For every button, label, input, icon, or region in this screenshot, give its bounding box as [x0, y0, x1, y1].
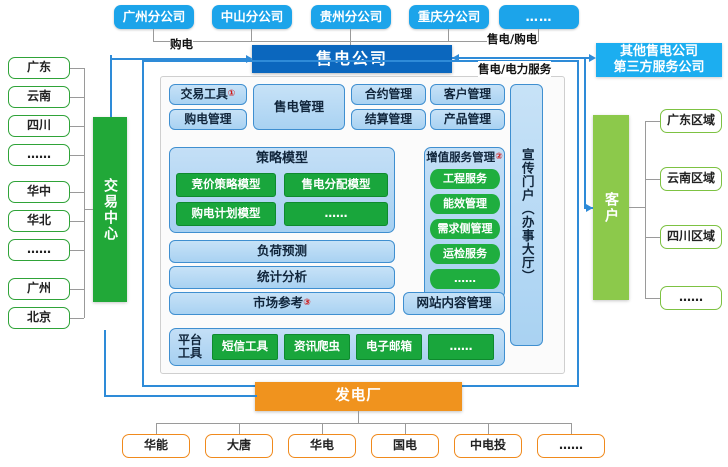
left-node-0[interactable]: 广东 — [8, 57, 70, 79]
group-value-added-title-label: 增值服务管理 — [426, 151, 495, 164]
left-tree-branch-2 — [70, 126, 84, 127]
left-node-8[interactable]: 北京 — [8, 307, 70, 329]
diagram-canvas: 广州分公司 中山分公司 贵州分公司 重庆分公司 …… 售电公司 交易工具① 购电… — [0, 0, 728, 467]
right-tree-branch-3 — [645, 298, 660, 299]
top-branch-1[interactable]: 中山分公司 — [212, 5, 292, 29]
bottom-tree-branch-1 — [239, 423, 240, 434]
module-statistical-analysis[interactable]: 统计分析 — [169, 266, 395, 289]
module-load-forecast[interactable]: 负荷预测 — [169, 240, 395, 263]
strategy-item-3[interactable]: …… — [284, 202, 388, 226]
left-tree-to-hub — [84, 209, 93, 210]
platform-tools-title-line2: 工具 — [178, 347, 202, 360]
module-trading-tools-label: 交易工具 — [181, 88, 228, 102]
group-platform-tools-title: 平台 工具 — [173, 331, 207, 363]
value-added-item-0[interactable]: 工程服务 — [430, 169, 500, 189]
value-added-item-3[interactable]: 运检服务 — [430, 244, 500, 264]
left-tree-branch-8 — [70, 318, 84, 319]
top-branch-3[interactable]: 重庆分公司 — [409, 5, 489, 29]
module-website-content-mgmt[interactable]: 网站内容管理 — [403, 292, 505, 315]
module-market-reference[interactable]: 市场参考③ — [169, 292, 395, 315]
hub-power-plant: 发电厂 — [255, 382, 462, 411]
bottom-tree-branch-3 — [405, 423, 406, 434]
group-value-added-title: 增值服务管理② — [424, 149, 505, 166]
module-trading-tools[interactable]: 交易工具① — [169, 84, 247, 105]
flow-buy-power-hline — [110, 58, 250, 60]
module-settlement-mgmt[interactable]: 结算管理 — [351, 109, 426, 130]
flow-buy-power-arrowhead — [246, 55, 253, 63]
platform-tool-0[interactable]: 短信工具 — [212, 334, 278, 360]
module-publicity-portal[interactable]: 宣传门户（办事大厅） — [510, 84, 543, 346]
value-added-item-2[interactable]: 需求侧管理 — [430, 219, 500, 239]
right-tree-branch-1 — [645, 179, 660, 180]
bottom-tree-branch-4 — [488, 423, 489, 434]
flow-sell-service-vline — [584, 59, 586, 209]
right-tree-to-hub — [629, 207, 645, 208]
platform-tool-2[interactable]: 电子邮箱 — [356, 334, 422, 360]
hub-trading-center-label: 交易中心 — [102, 178, 118, 242]
module-contract-mgmt[interactable]: 合约管理 — [351, 84, 426, 105]
left-tree-branch-1 — [70, 97, 84, 98]
flow-sell-service-label: 售电/电力服务 — [478, 61, 551, 77]
module-market-reference-label: 市场参考 — [253, 296, 303, 310]
flow-sell-buy-arrowhead — [452, 54, 459, 62]
left-tree-branch-3 — [70, 155, 84, 156]
strategy-item-1[interactable]: 售电分配模型 — [284, 173, 388, 197]
left-node-3[interactable]: …… — [8, 144, 70, 166]
value-added-item-1[interactable]: 能效管理 — [430, 194, 500, 214]
bottom-node-3[interactable]: 国电 — [371, 434, 439, 458]
hub-trading-center: 交易中心 — [93, 117, 127, 302]
branch-bus — [153, 41, 539, 42]
value-added-item-4[interactable]: …… — [430, 269, 500, 289]
module-power-sales-mgmt[interactable]: 售电管理 — [253, 84, 345, 130]
top-branch-0[interactable]: 广州分公司 — [114, 5, 194, 29]
left-tree-branch-7 — [70, 289, 84, 290]
left-tree-spine — [84, 68, 85, 318]
footnote-mark-2: ② — [495, 152, 503, 162]
flow-plant-hline — [104, 395, 257, 397]
module-product-mgmt[interactable]: 产品管理 — [430, 109, 505, 130]
bottom-node-5[interactable]: …… — [537, 434, 605, 458]
group-strategy-model-title: 策略模型 — [169, 150, 395, 169]
module-publicity-portal-label: 宣传门户（办事大厅） — [519, 148, 533, 283]
flow-buy-power-label: 购电 — [170, 36, 193, 52]
bottom-tree-branch-5 — [571, 423, 572, 434]
left-node-1[interactable]: 云南 — [8, 86, 70, 108]
other-sales-companies-line1: 其他售电公司 — [620, 44, 698, 60]
platform-tool-1[interactable]: 资讯爬虫 — [284, 334, 350, 360]
left-node-6[interactable]: …… — [8, 239, 70, 261]
right-region-1[interactable]: 云南区域 — [660, 167, 722, 191]
hub-customer: 客户 — [593, 115, 629, 300]
platform-tool-3[interactable]: …… — [428, 334, 494, 360]
top-branch-2[interactable]: 贵州分公司 — [311, 5, 391, 29]
right-region-0[interactable]: 广东区域 — [660, 109, 722, 133]
other-sales-companies-line2: 第三方服务公司 — [613, 60, 704, 76]
left-tree-branch-6 — [70, 250, 84, 251]
flow-other-companies-arrowhead — [589, 54, 596, 62]
right-tree-branch-2 — [645, 237, 660, 238]
bottom-tree-bus — [156, 423, 571, 424]
right-region-2[interactable]: 四川区域 — [660, 225, 722, 249]
hub-customer-label: 客户 — [603, 192, 619, 224]
flow-buy-power-vline — [110, 55, 112, 117]
flow-plant-vline — [104, 330, 106, 396]
footnote-mark-3: ③ — [303, 298, 311, 308]
footnote-mark-1: ① — [228, 89, 236, 99]
flow-sell-buy-hline — [452, 57, 592, 59]
bottom-node-1[interactable]: 大唐 — [205, 434, 273, 458]
module-power-purchase-mgmt[interactable]: 购电管理 — [169, 109, 247, 130]
right-tree-spine — [645, 121, 646, 298]
strategy-item-0[interactable]: 竞价策略模型 — [176, 173, 276, 197]
left-node-7[interactable]: 广州 — [8, 278, 70, 300]
left-node-4[interactable]: 华中 — [8, 181, 70, 203]
bottom-node-2[interactable]: 华电 — [288, 434, 356, 458]
left-tree-branch-0 — [70, 68, 84, 69]
left-tree-branch-4 — [70, 192, 84, 193]
left-node-2[interactable]: 四川 — [8, 115, 70, 137]
bottom-tree-branch-2 — [322, 423, 323, 434]
left-tree-branch-5 — [70, 221, 84, 222]
right-region-3[interactable]: …… — [660, 286, 722, 310]
bottom-node-0[interactable]: 华能 — [122, 434, 190, 458]
right-tree-branch-0 — [645, 121, 660, 122]
module-customer-mgmt[interactable]: 客户管理 — [430, 84, 505, 105]
bottom-tree-branch-0 — [156, 423, 157, 434]
top-branch-4[interactable]: …… — [499, 5, 579, 29]
flow-sell-buy-label: 售电/购电 — [487, 31, 537, 47]
strategy-item-2[interactable]: 购电计划模型 — [176, 202, 276, 226]
flow-sell-service-arrowhead — [586, 204, 593, 212]
left-node-5[interactable]: 华北 — [8, 210, 70, 232]
bottom-node-4[interactable]: 中电投 — [454, 434, 522, 458]
other-sales-companies-box: 其他售电公司 第三方服务公司 — [596, 43, 722, 77]
